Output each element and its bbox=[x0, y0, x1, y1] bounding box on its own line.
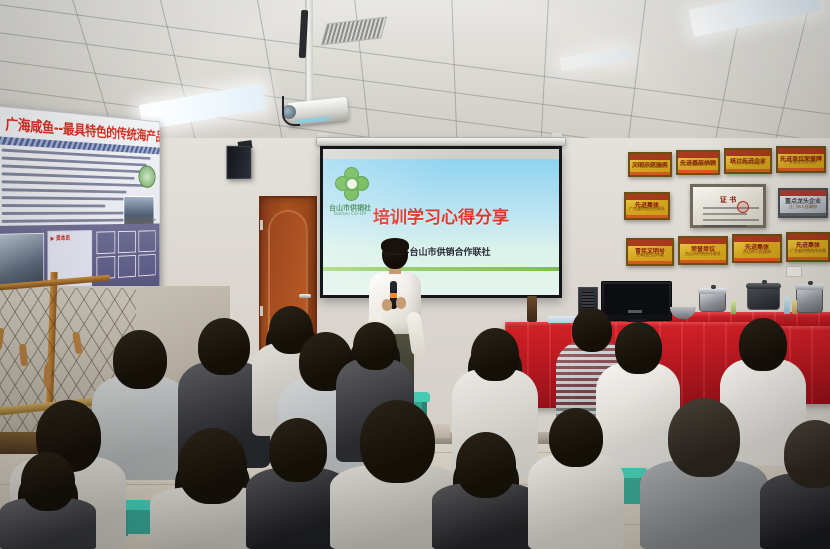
plaque-header bbox=[680, 238, 726, 244]
certificate-seal-icon bbox=[737, 201, 749, 213]
presenter-hand-right bbox=[396, 297, 406, 309]
audience-head bbox=[113, 330, 167, 389]
banner-seal-icon bbox=[139, 165, 156, 188]
award-plaque: 统计先进企业台山市统计局颁发 bbox=[724, 148, 772, 174]
award-plaque: 先进单位荣誉牌广东省农业农村厅 bbox=[776, 146, 826, 173]
slide-subtitle: ——台山市供销合作联社 bbox=[323, 245, 559, 258]
rice-cooker bbox=[699, 291, 726, 312]
audience-head bbox=[739, 318, 787, 371]
audience-member bbox=[432, 432, 540, 549]
plaque-subtitle: 广东省供销合作联社 bbox=[632, 163, 668, 169]
audience-head bbox=[668, 398, 740, 477]
certificate-text-line bbox=[703, 213, 747, 215]
pressure-cooker bbox=[747, 286, 780, 310]
door-hinge bbox=[260, 220, 263, 230]
coop-logo-core bbox=[345, 177, 359, 191]
plaque-header bbox=[780, 190, 826, 196]
presenter-hand-left bbox=[382, 299, 392, 311]
bottle bbox=[792, 300, 797, 314]
audience-member bbox=[760, 420, 830, 549]
plaque-subtitle: 江门市供销合作联社 bbox=[680, 161, 716, 167]
plaque-header bbox=[788, 234, 828, 240]
projection-screen: 台山市供销社 Taishan CO-OP 培训学习心得分享 ——台山市供销合作联… bbox=[320, 146, 562, 298]
audience-head bbox=[178, 428, 247, 504]
audience-head bbox=[784, 420, 830, 488]
plaque-header bbox=[734, 236, 780, 242]
audience-member bbox=[640, 398, 768, 549]
audience-head bbox=[360, 400, 435, 483]
certificate-text-line bbox=[703, 225, 747, 227]
plaque-header bbox=[778, 148, 824, 154]
plaque-header bbox=[630, 154, 670, 160]
wall-speaker bbox=[226, 146, 251, 179]
torso-shading bbox=[528, 454, 624, 549]
certificate-text-line bbox=[703, 207, 759, 209]
audience-member bbox=[0, 452, 96, 549]
audience-head bbox=[353, 322, 397, 370]
microphone-band bbox=[390, 293, 397, 298]
framed-certificate: 证 书 bbox=[690, 184, 766, 228]
plaque-header bbox=[628, 240, 672, 246]
audience-torso bbox=[528, 454, 624, 549]
monitor-logo bbox=[628, 310, 642, 313]
door-handle[interactable] bbox=[299, 294, 311, 298]
plaque-header bbox=[626, 194, 668, 200]
award-plaque: 文明示范服务窗口广东省供销合作联社 bbox=[628, 152, 672, 177]
audience-member bbox=[528, 408, 624, 549]
slide-title: 培训学习心得分享 bbox=[323, 203, 559, 228]
seminar-photo: 广海咸鱼--最具特色的传统海产品 ▶ 资本员 广海咸鱼制作技艺展示 · 台山市非… bbox=[0, 0, 830, 549]
presenter-glasses bbox=[387, 254, 403, 258]
award-plaque: 青年文明号共青团台山市委 bbox=[626, 238, 674, 266]
audience-head bbox=[198, 318, 250, 375]
plaque-subtitle: 台山市统计局颁发 bbox=[728, 160, 768, 166]
plaque-subtitle: 广东省供销合作联社 bbox=[628, 206, 666, 212]
award-plaque: 先进集体广东省供销合作社联合社 bbox=[786, 232, 830, 262]
plaque-subtitle: 广东省供销合作社联合社 bbox=[790, 248, 826, 254]
coop-logo-icon bbox=[335, 167, 369, 201]
wall-outlet[interactable] bbox=[786, 266, 802, 277]
certificate-text-line bbox=[703, 219, 759, 221]
audience-head bbox=[615, 322, 662, 374]
award-plaque: 先进集体广东省供销合作联社 bbox=[624, 192, 670, 220]
stock-pot bbox=[796, 287, 823, 313]
audience-head bbox=[269, 418, 327, 482]
plaque-subtitle: 共青团台山市委 bbox=[630, 252, 670, 258]
bottle bbox=[784, 297, 790, 314]
award-plaque: 重点龙头企业江门市人民政府 bbox=[778, 188, 828, 218]
award-plaque: 荣誉单位台山市供销合作联社 bbox=[678, 236, 728, 265]
plaque-header bbox=[726, 150, 770, 156]
audience-head bbox=[471, 328, 519, 381]
slide-accent-band bbox=[323, 267, 559, 271]
banner-section-title: ▶ 资本员 bbox=[51, 233, 70, 242]
presenter-hair bbox=[381, 238, 409, 252]
plaque-subtitle: 江门市人民政府 bbox=[782, 204, 824, 210]
award-plaque: 先进集体台山市人民政府 bbox=[732, 234, 782, 263]
audience-head bbox=[456, 432, 516, 498]
plaque-subtitle: 广东省农业农村厅 bbox=[780, 159, 822, 165]
plaque-header bbox=[678, 152, 718, 158]
plaque-subtitle: 台山市供销合作联社 bbox=[682, 251, 724, 257]
thermos bbox=[527, 296, 537, 322]
certificate-title: 证 书 bbox=[693, 195, 763, 205]
screen-housing bbox=[316, 137, 566, 146]
audience-head bbox=[21, 452, 75, 511]
audience-head bbox=[549, 408, 603, 467]
award-plaque: 先进基层供销社江门市供销合作联社 bbox=[676, 150, 720, 175]
plaque-subtitle: 台山市人民政府 bbox=[736, 249, 778, 255]
speaker-grill-icon bbox=[582, 292, 594, 308]
bottle bbox=[731, 300, 736, 314]
